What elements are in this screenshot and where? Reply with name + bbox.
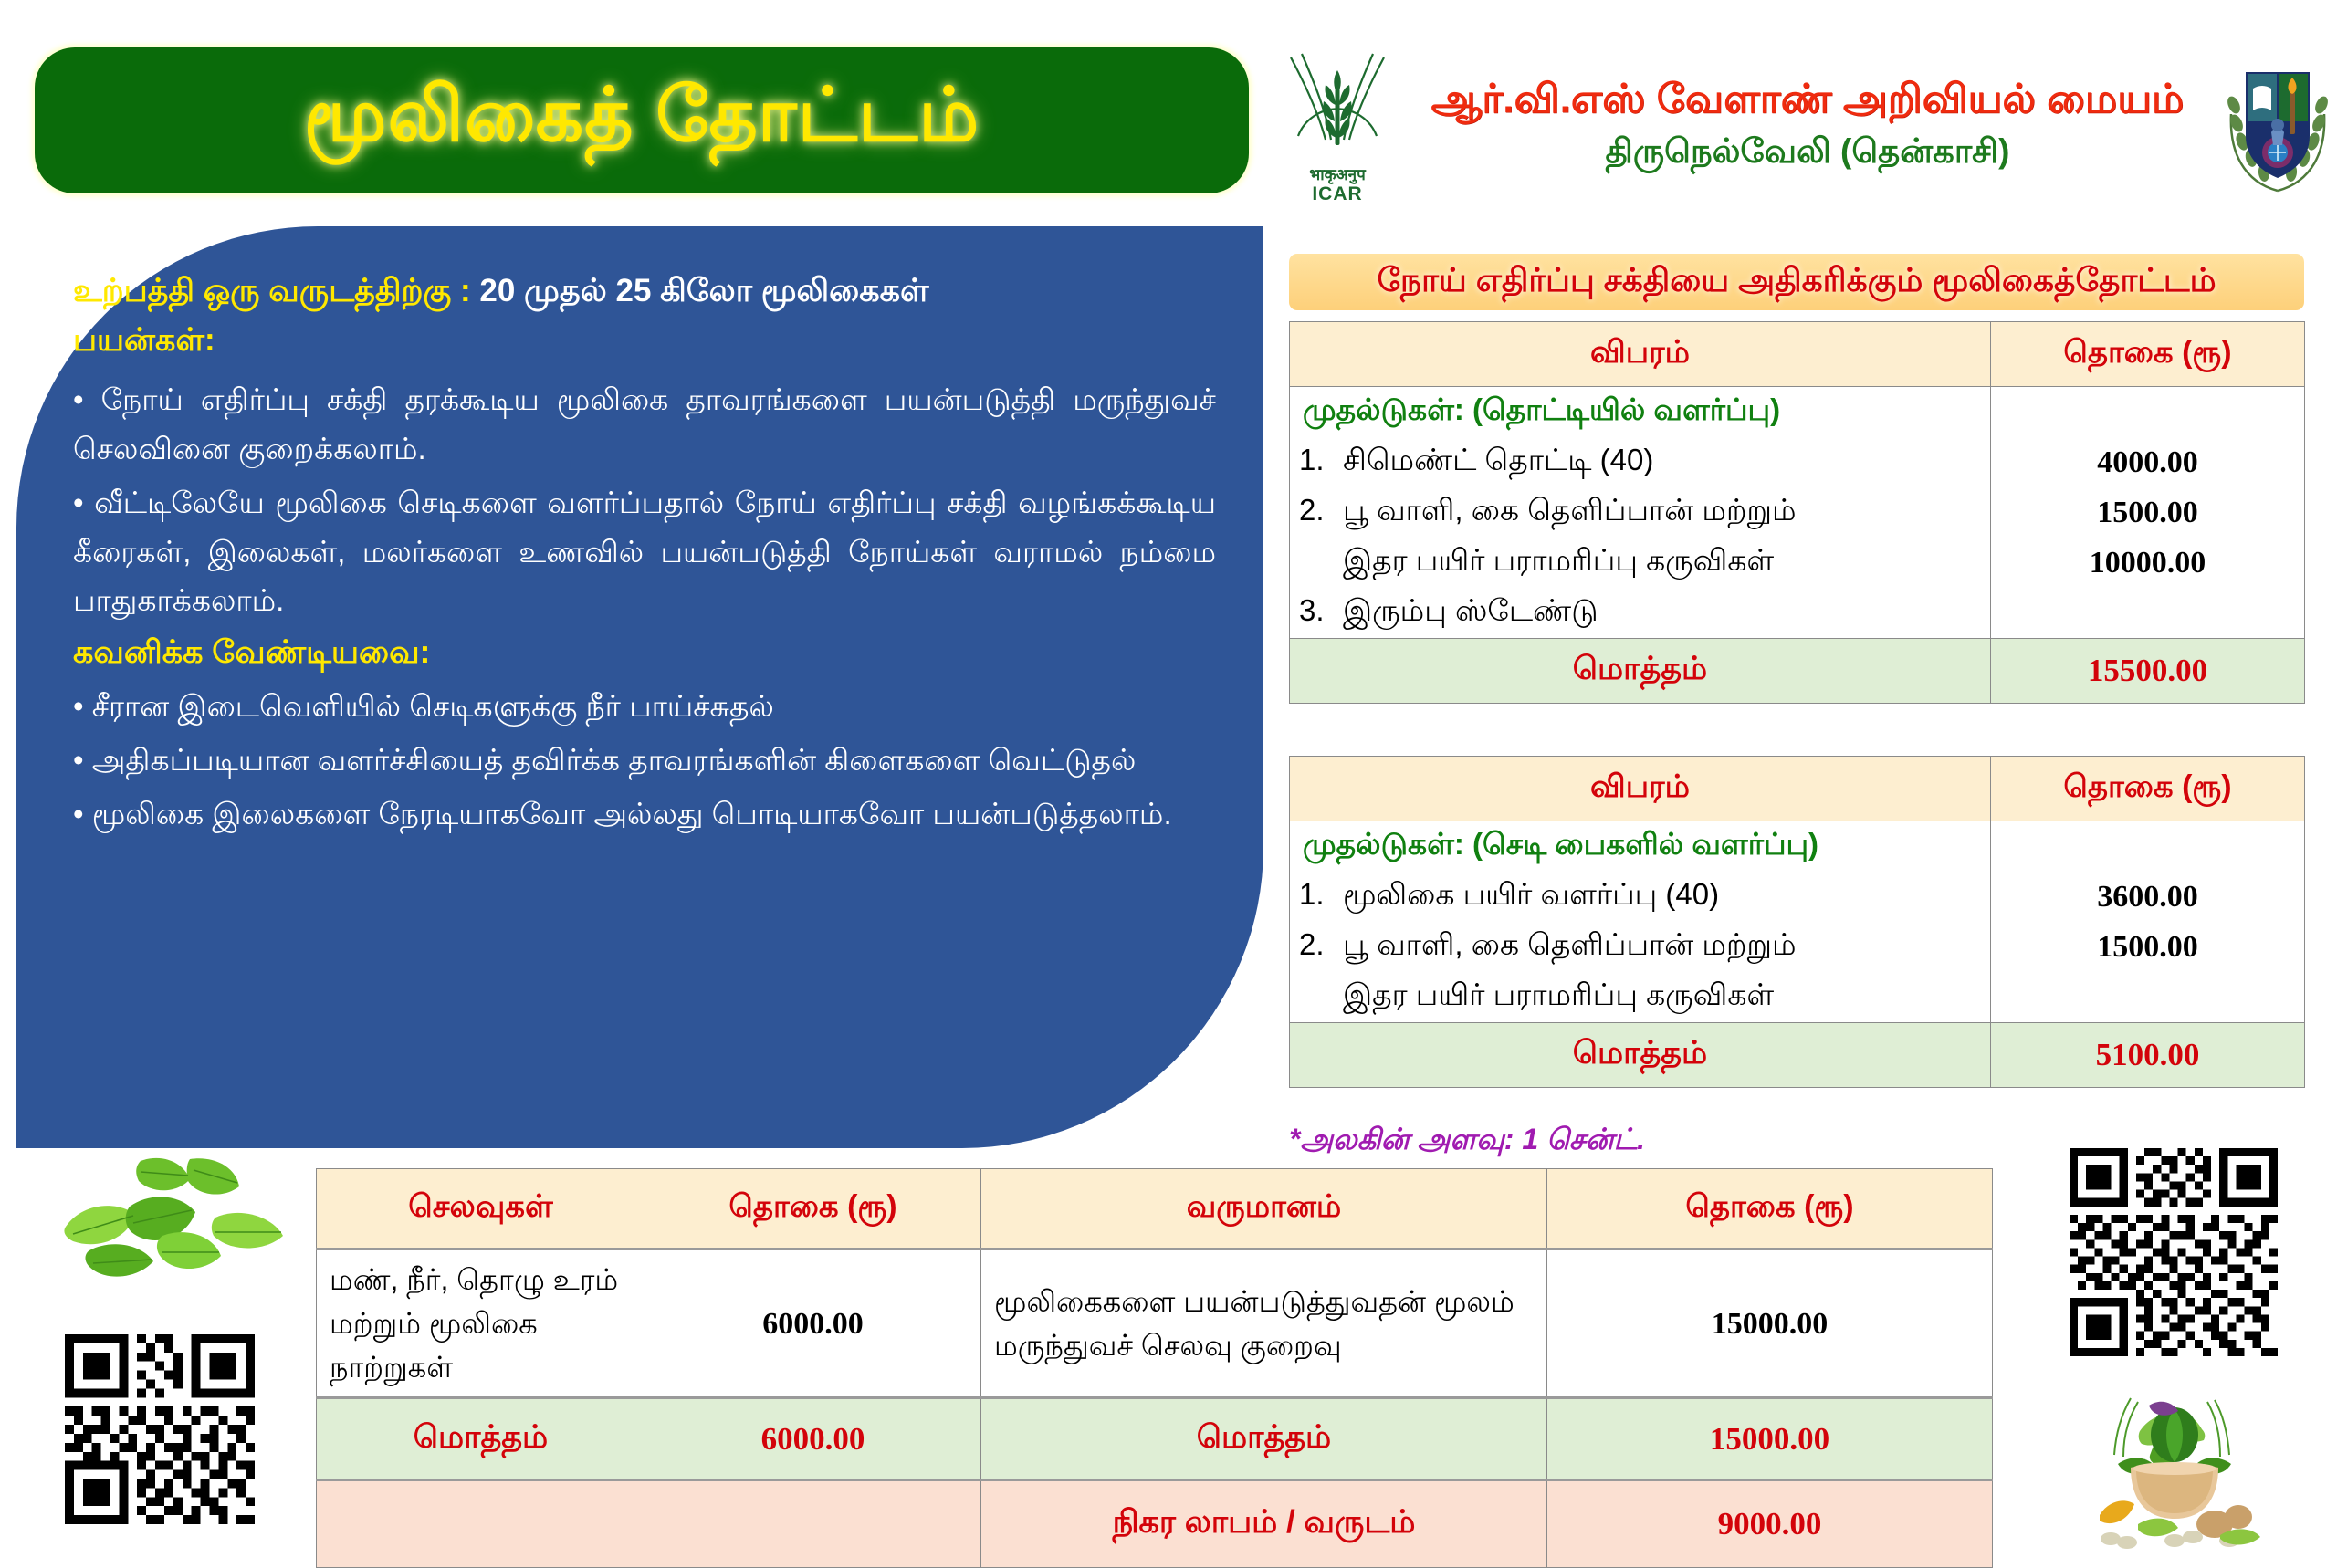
row-amount: 1500.00 — [1991, 922, 2305, 972]
table-group-row: முதல்டுகள்: (தொட்டியில் வளர்ப்பு) — [1290, 387, 2305, 438]
table-row: இதர பயிர் பராமரிப்பு கருவிகள் — [1290, 972, 2305, 1023]
production-value: 20 முதல் 25 கிலோ மூலிகைகள் — [479, 273, 928, 308]
row-item: இதர பயிர் பராமரிப்பு கருவிகள் — [1290, 972, 1991, 1023]
income-amount: 15000.00 — [1547, 1249, 1993, 1398]
benefit-item: வீட்டிலேயே மூலிகை செடிகளை வளர்ப்பதால் நோ… — [73, 478, 1216, 624]
group-label: முதல்டுகள்: (செடி பைகளில் வளர்ப்பு) — [1290, 821, 1991, 873]
row-label: இதர பயிர் பராமரிப்பு கருவிகள் — [1343, 977, 1774, 1011]
column-header-income-amount: தொகை (ரூ) — [1547, 1169, 1993, 1249]
column-header-expense-amount: தொகை (ரூ) — [645, 1169, 981, 1249]
group-amount-blank — [1991, 821, 2305, 873]
subtitle-text: நோய் எதிர்ப்பு சக்தியை அதிகரிக்கும் மூலி… — [1377, 261, 2216, 304]
row-amount: 10000.00 — [1991, 538, 2305, 588]
income-total-amount: 15000.00 — [1547, 1398, 1993, 1481]
table-header-row: விபரம் தொகை (ரூ) — [1290, 757, 2305, 821]
row-number: 1. — [1299, 877, 1343, 912]
total-amount: 15500.00 — [1991, 639, 2305, 704]
total-amount: 5100.00 — [1991, 1023, 2305, 1088]
icar-english-label: ICAR — [1312, 184, 1362, 204]
income-total-label: மொத்தம் — [981, 1398, 1547, 1481]
row-label: பூ வாளி, கை தெளிப்பான் மற்றும் — [1343, 493, 1797, 527]
row-amount: 4000.00 — [1991, 437, 2305, 487]
wheat-emblem-icon — [1278, 48, 1397, 165]
header-branding: भाकृअनुप ICAR ஆர்.வி.எஸ் வேளாண் அறிவியல்… — [1278, 41, 2337, 210]
row-number: 1. — [1299, 443, 1343, 477]
profit-amount: 9000.00 — [1547, 1480, 1993, 1568]
row-amount: 1500.00 — [1991, 487, 2305, 538]
column-header-income: வருமானம் — [981, 1169, 1547, 1249]
notice-heading: கவனிக்க வேண்டியவை: — [73, 634, 1216, 674]
row-item: 1.மூலிகை பயிர் வளர்ப்பு (40) — [1290, 872, 1991, 922]
table-row: 2.பூ வாளி, கை தெளிப்பான் மற்றும் 1500.00 — [1290, 922, 2305, 972]
column-header-detail: விபரம் — [1290, 322, 1991, 387]
table-group-row: முதல்டுகள்: (செடி பைகளில் வளர்ப்பு) — [1290, 821, 2305, 873]
qr-code-left[interactable] — [64, 1334, 256, 1524]
expense-total-amount: 6000.00 — [645, 1398, 981, 1481]
mortar-with-herbs-photo — [2083, 1378, 2266, 1552]
table-header-row: செலவுகள் தொகை (ரூ) வருமானம் தொகை (ரூ) — [317, 1169, 1993, 1249]
kvk-emblem-icon — [2218, 57, 2337, 194]
table-total-row: மொத்தம் 5100.00 — [1290, 1023, 2305, 1088]
row-number: 2. — [1299, 493, 1343, 528]
row-item: 3.இரும்பு ஸ்டேண்டு — [1290, 588, 1991, 639]
profit-blank-one — [317, 1480, 645, 1568]
benefit-item: நோய் எதிர்ப்பு சக்தி தரக்கூடிய மூலிகை தா… — [73, 375, 1216, 473]
group-label: முதல்டுகள்: (தொட்டியில் வளர்ப்பு) — [1290, 387, 1991, 438]
notice-item: மூலிகை இலைகளை நேரடியாகவோ அல்லது பொடியாகவ… — [73, 789, 1216, 838]
table-row: 1.மூலிகை பயிர் வளர்ப்பு (40) 3600.00 — [1290, 872, 2305, 922]
poster-title-banner: மூலிகைத் தோட்டம் — [35, 47, 1249, 193]
qr-code-right[interactable] — [2065, 1148, 2282, 1356]
expense-total-label: மொத்தம் — [317, 1398, 645, 1481]
table-row: இதர பயிர் பராமரிப்பு கருவிகள் 10000.00 — [1290, 538, 2305, 588]
table-total-row: மொத்தம் 15500.00 — [1290, 639, 2305, 704]
row-item: 2.பூ வாளி, கை தெளிப்பான் மற்றும் — [1290, 922, 1991, 972]
icar-hindi-label: भाकृअनुप — [1309, 167, 1366, 183]
unit-size-note: *அலகின் அளவு: 1 சென்ட். — [1289, 1123, 1645, 1160]
institute-block: ஆர்.வி.எஸ் வேளாண் அறிவியல் மையம் திருநெல… — [1397, 74, 2218, 177]
profit-blank-two — [645, 1480, 981, 1568]
institute-name: ஆர்.வி.எஸ் வேளாண் அறிவியல் மையம் — [1397, 74, 2218, 124]
benefits-heading: பயன்கள்: — [73, 318, 1216, 362]
total-label: மொத்தம் — [1290, 1023, 1991, 1088]
table-profit-row: நிகர லாபம் / வருடம் 9000.00 — [317, 1480, 1993, 1568]
income-item: மூலிகைகளை பயன்படுத்துவதன் மூலம் மருந்துவ… — [981, 1249, 1547, 1398]
production-line: உற்பத்தி ஒரு வருடத்திற்கு : 20 முதல் 25 … — [73, 267, 1216, 316]
icar-logo: भाकृअनुप ICAR — [1278, 48, 1397, 204]
table-total-row: மொத்தம் 6000.00 மொத்தம் 15000.00 — [317, 1398, 1993, 1481]
row-label: பூ வாளி, கை தெளிப்பான் மற்றும் — [1343, 927, 1797, 961]
row-label: இரும்பு ஸ்டேண்டு — [1343, 593, 1598, 627]
row-label: சிமெண்ட் தொட்டி (40) — [1343, 443, 1653, 476]
group-amount-blank — [1991, 387, 2305, 438]
total-label: மொத்தம் — [1290, 639, 1991, 704]
row-label: இதர பயிர் பராமரிப்பு கருவிகள் — [1343, 543, 1774, 577]
row-number: 2. — [1299, 927, 1343, 962]
row-label: மூலிகை பயிர் வளர்ப்பு (40) — [1343, 877, 1719, 911]
production-label: உற்பத்தி ஒரு வருடத்திற்கு : — [73, 273, 471, 308]
column-header-amount: தொகை (ரூ) — [1991, 322, 2305, 387]
grow-bag-cultivation-cost-table: விபரம் தொகை (ரூ) முதல்டுகள்: (செடி பைகளி… — [1289, 756, 2305, 1088]
table-row: 3.இரும்பு ஸ்டேண்டு — [1290, 588, 2305, 639]
expense-item: மண், நீர், தொழு உரம் மற்றும் மூலிகை நாற்… — [317, 1249, 645, 1398]
row-amount — [1991, 588, 2305, 639]
table-row: 1.சிமெண்ட் தொட்டி (40) 4000.00 — [1290, 437, 2305, 487]
column-header-amount: தொகை (ரூ) — [1991, 757, 2305, 821]
economics-summary-table: செலவுகள் தொகை (ரூ) வருமானம் தொகை (ரூ) மண… — [316, 1168, 1993, 1568]
institute-place: திருநெல்வேலி (தென்காசி) — [1397, 131, 2218, 172]
notice-item: அதிகப்படியான வளர்ச்சியைத் தவிர்க்க தாவரங… — [73, 736, 1216, 784]
column-header-detail: விபரம் — [1290, 757, 1991, 821]
notice-item: சீரான இடைவெளியில் செடிகளுக்கு நீர் பாய்ச… — [73, 682, 1216, 730]
table-row: மண், நீர், தொழு உரம் மற்றும் மூலிகை நாற்… — [317, 1249, 1993, 1398]
column-header-expense: செலவுகள் — [317, 1169, 645, 1249]
row-amount: 3600.00 — [1991, 872, 2305, 922]
row-item: 2.பூ வாளி, கை தெளிப்பான் மற்றும் — [1290, 487, 1991, 538]
row-amount — [1991, 972, 2305, 1023]
row-number: 3. — [1299, 593, 1343, 628]
expense-amount: 6000.00 — [645, 1249, 981, 1398]
table-header-row: விபரம் தொகை (ரூ) — [1290, 322, 2305, 387]
page-title: மூலிகைத் தோட்டம் — [304, 73, 980, 169]
subtitle-bar: நோய் எதிர்ப்பு சக்தியை அதிகரிக்கும் மூலி… — [1289, 254, 2304, 310]
row-item: 1.சிமெண்ட் தொட்டி (40) — [1290, 437, 1991, 487]
row-item: இதர பயிர் பராமரிப்பு கருவிகள் — [1290, 538, 1991, 588]
mint-leaves-photo — [53, 1152, 298, 1291]
tank-cultivation-cost-table: விபரம் தொகை (ரூ) முதல்டுகள்: (தொட்டியில்… — [1289, 321, 2305, 704]
benefits-panel: உற்பத்தி ஒரு வருடத்திற்கு : 20 முதல் 25 … — [16, 226, 1263, 1148]
profit-label: நிகர லாபம் / வருடம் — [981, 1480, 1547, 1568]
table-row: 2.பூ வாளி, கை தெளிப்பான் மற்றும் 1500.00 — [1290, 487, 2305, 538]
